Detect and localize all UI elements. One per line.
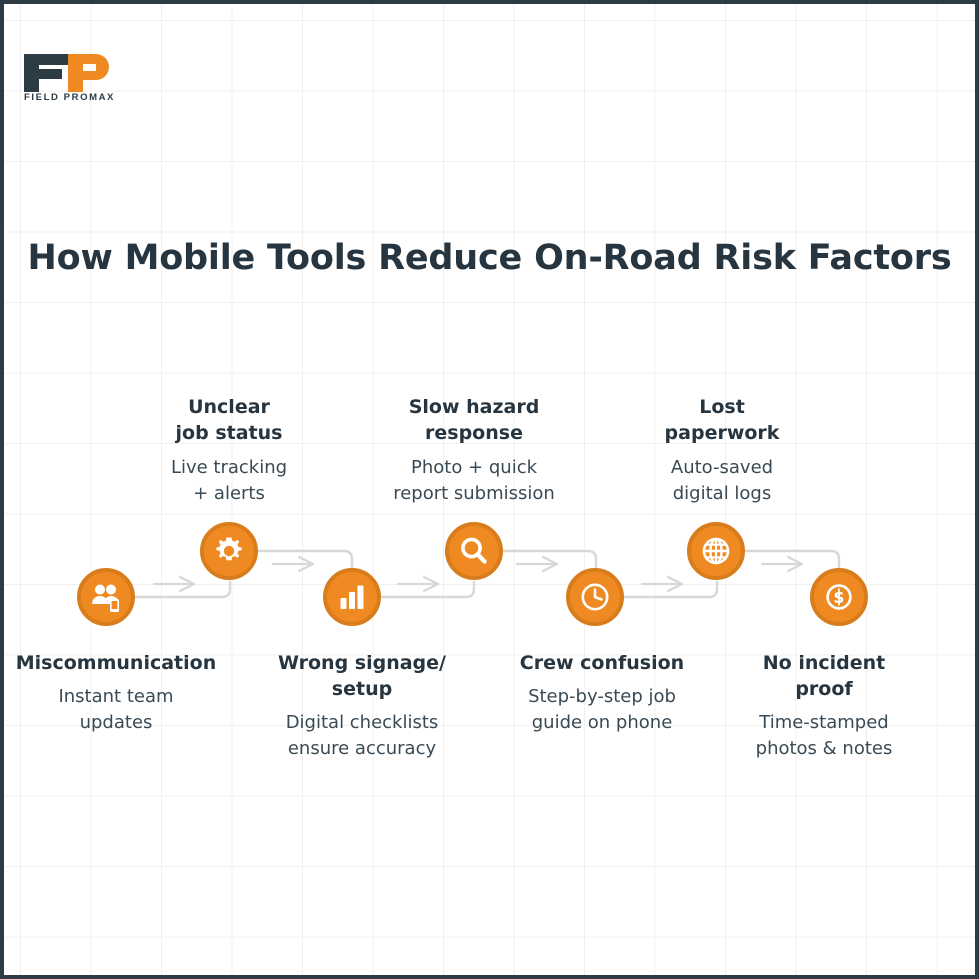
step-label-wrong-signage: Wrong signage/ setup Digital checklists … bbox=[232, 650, 492, 762]
flow-node-crew-confusion[interactable] bbox=[566, 568, 624, 626]
step-label-miscommunication: Miscommunication Instant team updates bbox=[0, 650, 246, 736]
step-head: No incident proof bbox=[694, 650, 954, 702]
step-head: Wrong signage/ setup bbox=[232, 650, 492, 702]
step-sub: Live tracking + alerts bbox=[99, 455, 359, 507]
gear-icon bbox=[214, 536, 244, 566]
people-mobile-icon bbox=[89, 580, 123, 614]
step-head: Miscommunication bbox=[0, 650, 246, 676]
step-sub: Instant team updates bbox=[0, 684, 246, 736]
step-head: Slow hazard response bbox=[344, 394, 604, 446]
step-label-crew-confusion: Crew confusion Step-by-step job guide on… bbox=[472, 650, 732, 736]
step-label-unclear-job-status: Unclear job status Live tracking + alert… bbox=[99, 394, 359, 507]
flow-node-miscommunication[interactable] bbox=[77, 568, 135, 626]
globe-icon bbox=[701, 536, 731, 566]
step-label-slow-hazard-response: Slow hazard response Photo + quick repor… bbox=[344, 394, 604, 507]
step-label-no-incident-proof: No incident proof Time-stamped photos & … bbox=[694, 650, 954, 762]
step-sub: Step-by-step job guide on phone bbox=[472, 684, 732, 736]
step-sub: Photo + quick report submission bbox=[344, 455, 604, 507]
step-head: Crew confusion bbox=[472, 650, 732, 676]
flow-node-unclear-job-status[interactable] bbox=[200, 522, 258, 580]
step-head: Unclear job status bbox=[99, 394, 359, 446]
dollar-coin-icon: S bbox=[824, 582, 854, 612]
bar-chart-icon bbox=[338, 583, 366, 611]
step-sub: Digital checklists ensure accuracy bbox=[232, 710, 492, 762]
step-head: Lost paperwork bbox=[592, 394, 852, 446]
flow-node-wrong-signage[interactable] bbox=[323, 568, 381, 626]
flow-node-slow-hazard-response[interactable] bbox=[445, 522, 503, 580]
step-label-lost-paperwork: Lost paperwork Auto-saved digital logs bbox=[592, 394, 852, 507]
step-sub: Time-stamped photos & notes bbox=[694, 710, 954, 762]
infographic-canvas: FIELD PROMAX How Mobile Tools Reduce On-… bbox=[0, 0, 979, 979]
search-icon bbox=[459, 536, 489, 566]
flow-diagram: S Unclear job status Live tracking + ale… bbox=[4, 4, 975, 975]
clock-icon bbox=[580, 582, 610, 612]
step-sub: Auto-saved digital logs bbox=[592, 455, 852, 507]
flow-node-lost-paperwork[interactable] bbox=[687, 522, 745, 580]
flow-node-no-incident-proof[interactable]: S bbox=[810, 568, 868, 626]
